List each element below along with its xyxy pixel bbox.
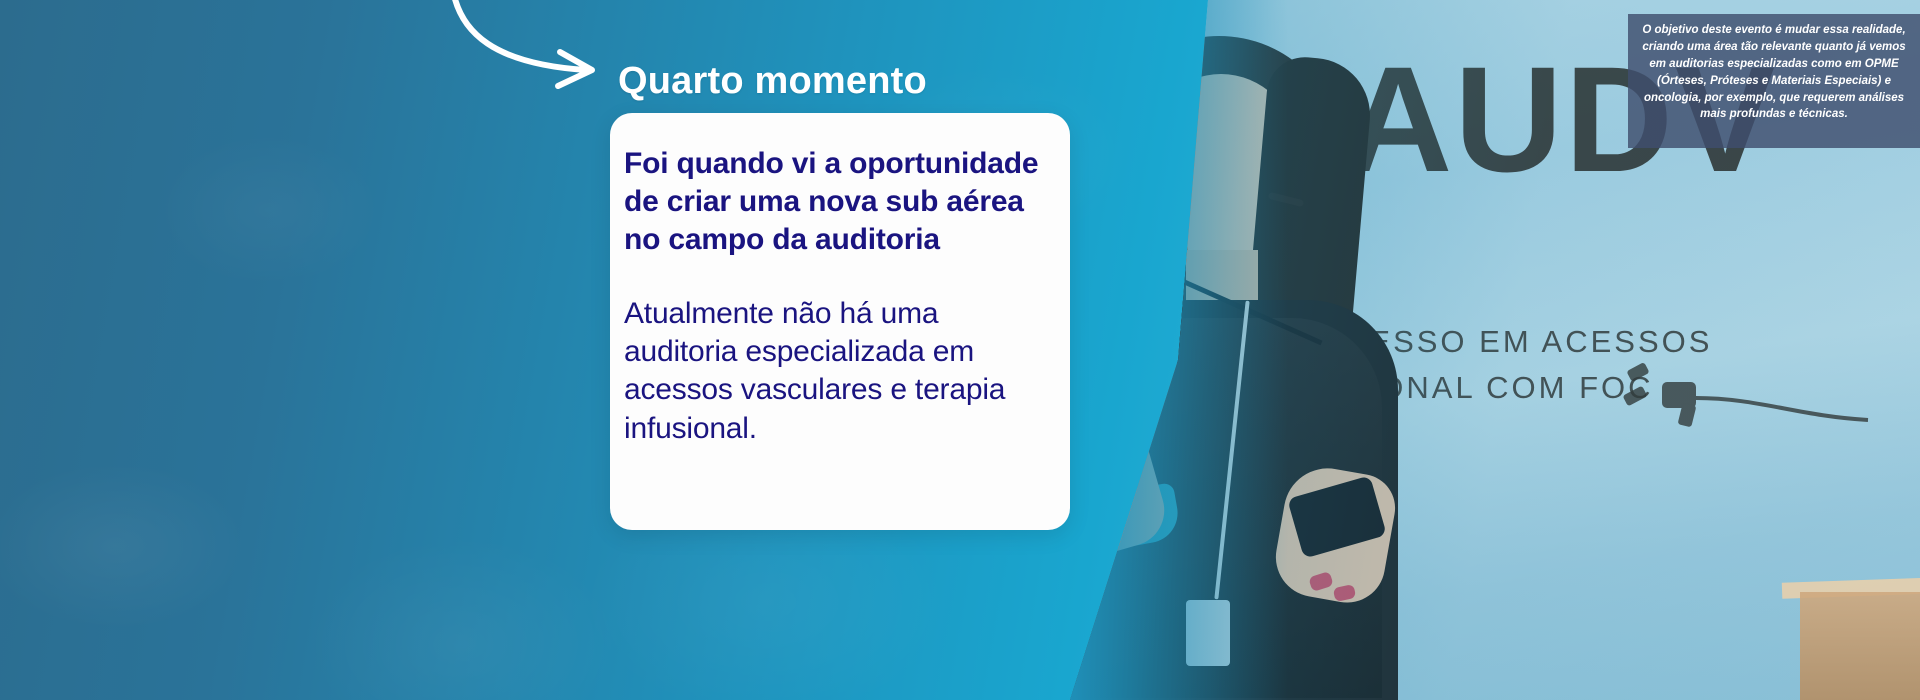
photo-left-fade [1058, 0, 1288, 700]
quote-box: O objetivo deste evento é mudar essa rea… [1628, 14, 1920, 148]
quote-text: O objetivo deste evento é mudar essa rea… [1642, 22, 1906, 123]
content-card: Foi quando vi a oportunidade de criar um… [610, 113, 1070, 530]
podium [1800, 592, 1920, 700]
curved-arrow-icon [400, 0, 640, 110]
card-lead-paragraph: Foi quando vi a oportunidade de criar um… [624, 145, 1048, 259]
card-body-paragraph: Atualmente não há uma auditoria especial… [624, 295, 1048, 447]
slide-canvas: Quarto momento Foi quando vi a oportunid… [0, 0, 1920, 700]
page-title: Quarto momento [618, 60, 927, 103]
